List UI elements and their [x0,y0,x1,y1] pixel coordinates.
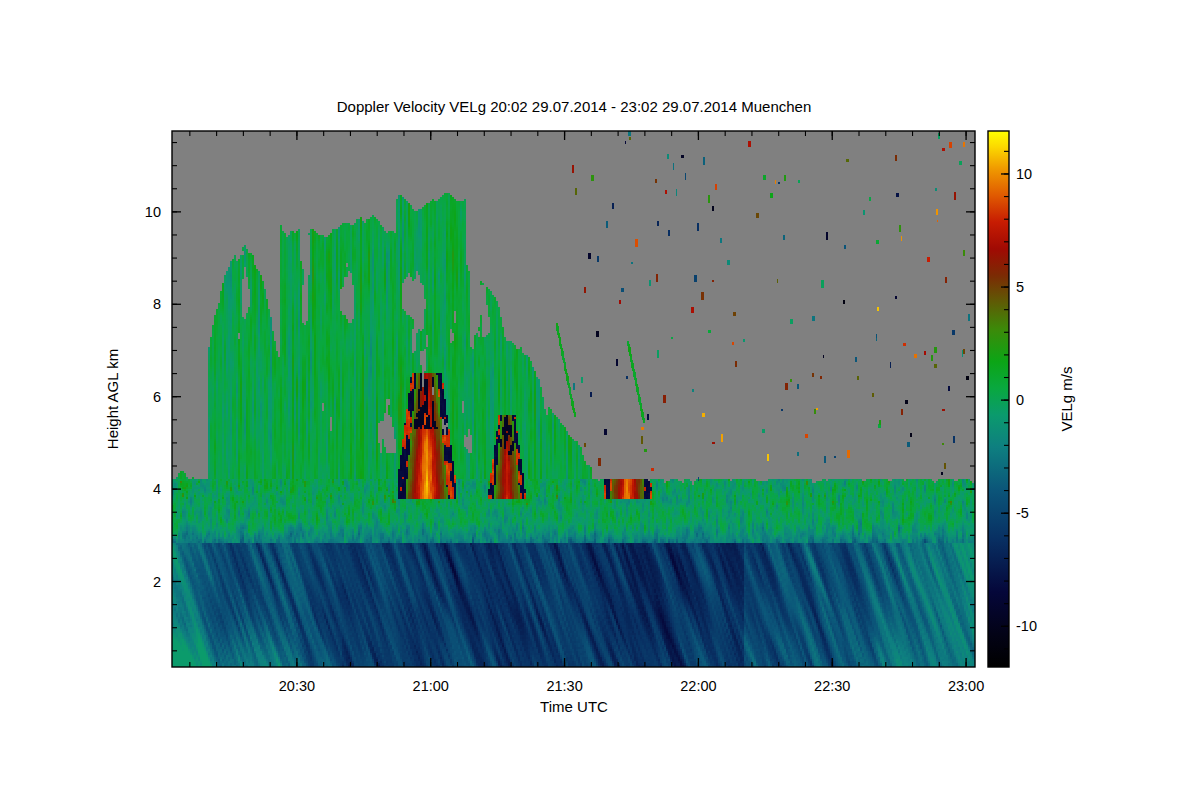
colorbar-tick-label: 0 [1016,392,1024,408]
x-tick-label: 21:30 [546,678,582,694]
colorbar-tick-label: -5 [1016,505,1029,521]
y-tick-label: 2 [153,574,161,590]
x-tick-label: 20:30 [279,678,315,694]
colorbar-tick-label: 10 [1016,166,1032,182]
colorbar-gradient [988,131,1009,667]
doppler-velocity-figure: Doppler Velocity VELg 20:02 29.07.2014 -… [0,0,1200,800]
page-title: Doppler Velocity VELg 20:02 29.07.2014 -… [337,98,812,115]
colorbar-tick-label: -10 [1016,618,1037,634]
y-tick-label: 8 [153,296,161,312]
x-tick-label: 21:00 [413,678,449,694]
y-axis-label: Height AGL km [104,349,121,449]
x-tick-label: 23:00 [948,678,984,694]
plot-area [172,131,976,667]
x-tick-label: 22:30 [814,678,850,694]
colorbar-tick-label: 5 [1016,279,1024,295]
colorbar-label: VELg m/s [1058,366,1075,431]
x-axis-label: Time UTC [540,698,608,715]
x-tick-label: 22:00 [680,678,716,694]
y-tick-label: 6 [153,389,161,405]
y-tick-label: 10 [145,204,161,220]
y-tick-label: 4 [153,481,161,497]
